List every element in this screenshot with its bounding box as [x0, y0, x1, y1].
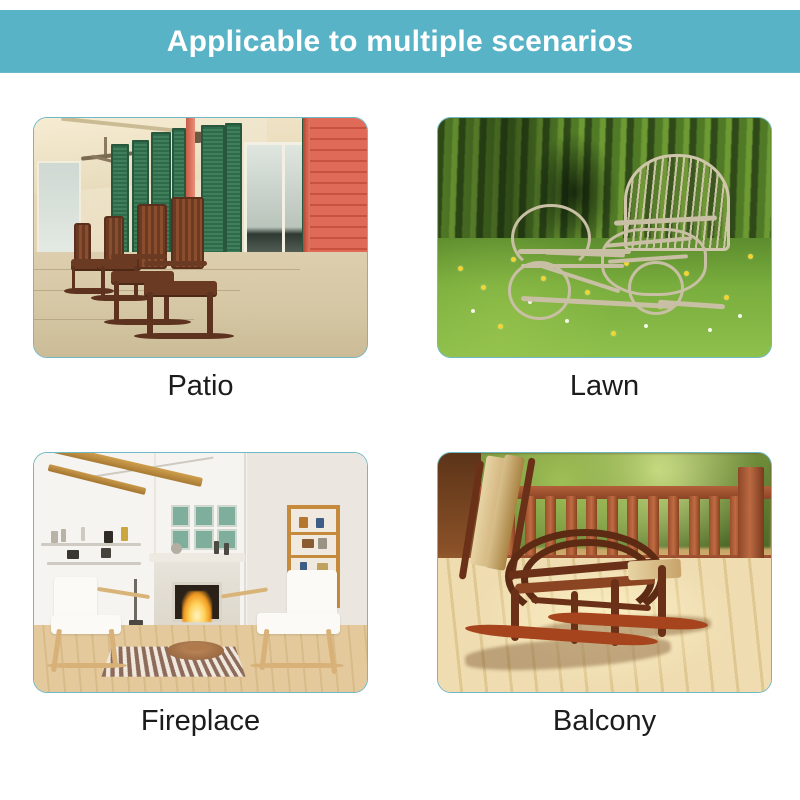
scenario-card-fireplace[interactable]: Fireplace — [33, 452, 368, 781]
scenario-label-balcony: Balcony — [553, 705, 656, 738]
balcony-illustration — [438, 453, 771, 692]
scenario-grid: Patio — [0, 100, 800, 780]
scenario-label-fireplace: Fireplace — [141, 705, 260, 738]
lawn-illustration — [438, 118, 771, 357]
page-title: Applicable to multiple scenarios — [167, 27, 634, 57]
scenario-showcase-page: Applicable to multiple scenarios — [0, 0, 800, 800]
header-banner: Applicable to multiple scenarios — [0, 10, 800, 73]
scenario-image-lawn[interactable] — [437, 117, 772, 358]
patio-illustration — [34, 118, 367, 357]
scenario-image-balcony[interactable] — [437, 452, 772, 693]
scenario-label-patio: Patio — [167, 370, 233, 403]
scenario-card-patio[interactable]: Patio — [33, 117, 368, 446]
fireplace-illustration — [34, 453, 367, 692]
scenario-image-fireplace[interactable] — [33, 452, 368, 693]
scenario-label-lawn: Lawn — [570, 370, 639, 403]
scenario-image-patio[interactable] — [33, 117, 368, 358]
scenario-card-lawn[interactable]: Lawn — [437, 117, 772, 446]
scenario-card-balcony[interactable]: Balcony — [437, 452, 772, 781]
